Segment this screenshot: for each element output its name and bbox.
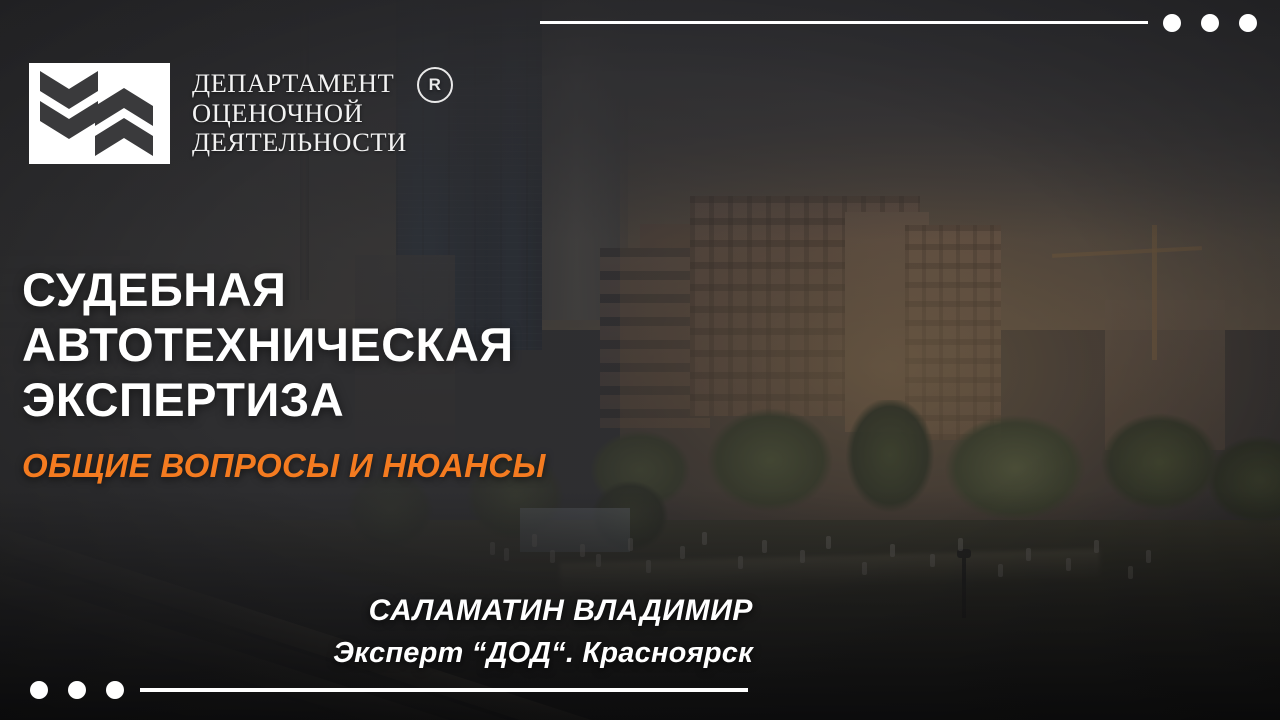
brand-name-line-2: ОЦЕНОЧНОЙ <box>192 99 407 129</box>
dot-icon <box>68 681 86 699</box>
dot-icon <box>106 681 124 699</box>
registered-trademark-icon: R <box>417 67 453 103</box>
content-layer: ДЕПАРТАМЕНТ ОЦЕНОЧНОЙ ДЕЯТЕЛЬНОСТИ R СУД… <box>0 0 1280 720</box>
speaker-name: САЛАМАТИН ВЛАДИМИР <box>333 594 753 628</box>
page-title: СУДЕБНАЯ АВТОТЕХНИЧЕСКАЯ ЭКСПЕРТИЗА <box>22 262 514 427</box>
top-right-rule <box>540 21 1148 24</box>
brand-name-line-3: ДЕЯТЕЛЬНОСТИ <box>192 128 407 158</box>
dot-icon <box>30 681 48 699</box>
brand-name: ДЕПАРТАМЕНТ ОЦЕНОЧНОЙ ДЕЯТЕЛЬНОСТИ R <box>192 69 407 159</box>
top-right-dots <box>1163 14 1257 32</box>
speaker-role: Эксперт “ДОД“. Красноярск <box>333 637 753 670</box>
bottom-left-rule <box>140 688 748 692</box>
bottom-left-dots <box>30 681 124 699</box>
brand-name-line-1: ДЕПАРТАМЕНТ <box>192 69 407 99</box>
brand-logo-lockup: ДЕПАРТАМЕНТ ОЦЕНОЧНОЙ ДЕЯТЕЛЬНОСТИ R <box>29 63 407 164</box>
title-line-2: АВТОТЕХНИЧЕСКАЯ <box>22 317 514 372</box>
dot-icon <box>1239 14 1257 32</box>
chevrons-logo-icon <box>29 63 170 164</box>
dot-icon <box>1201 14 1219 32</box>
title-slide: ДЕПАРТАМЕНТ ОЦЕНОЧНОЙ ДЕЯТЕЛЬНОСТИ R СУД… <box>0 0 1280 720</box>
title-line-1: СУДЕБНАЯ <box>22 262 514 317</box>
speaker-block: САЛАМАТИН ВЛАДИМИР Эксперт “ДОД“. Красно… <box>333 594 753 670</box>
title-line-3: ЭКСПЕРТИЗА <box>22 372 514 427</box>
page-subtitle: ОБЩИЕ ВОПРОСЫ И НЮАНСЫ <box>22 447 546 485</box>
dot-icon <box>1163 14 1181 32</box>
